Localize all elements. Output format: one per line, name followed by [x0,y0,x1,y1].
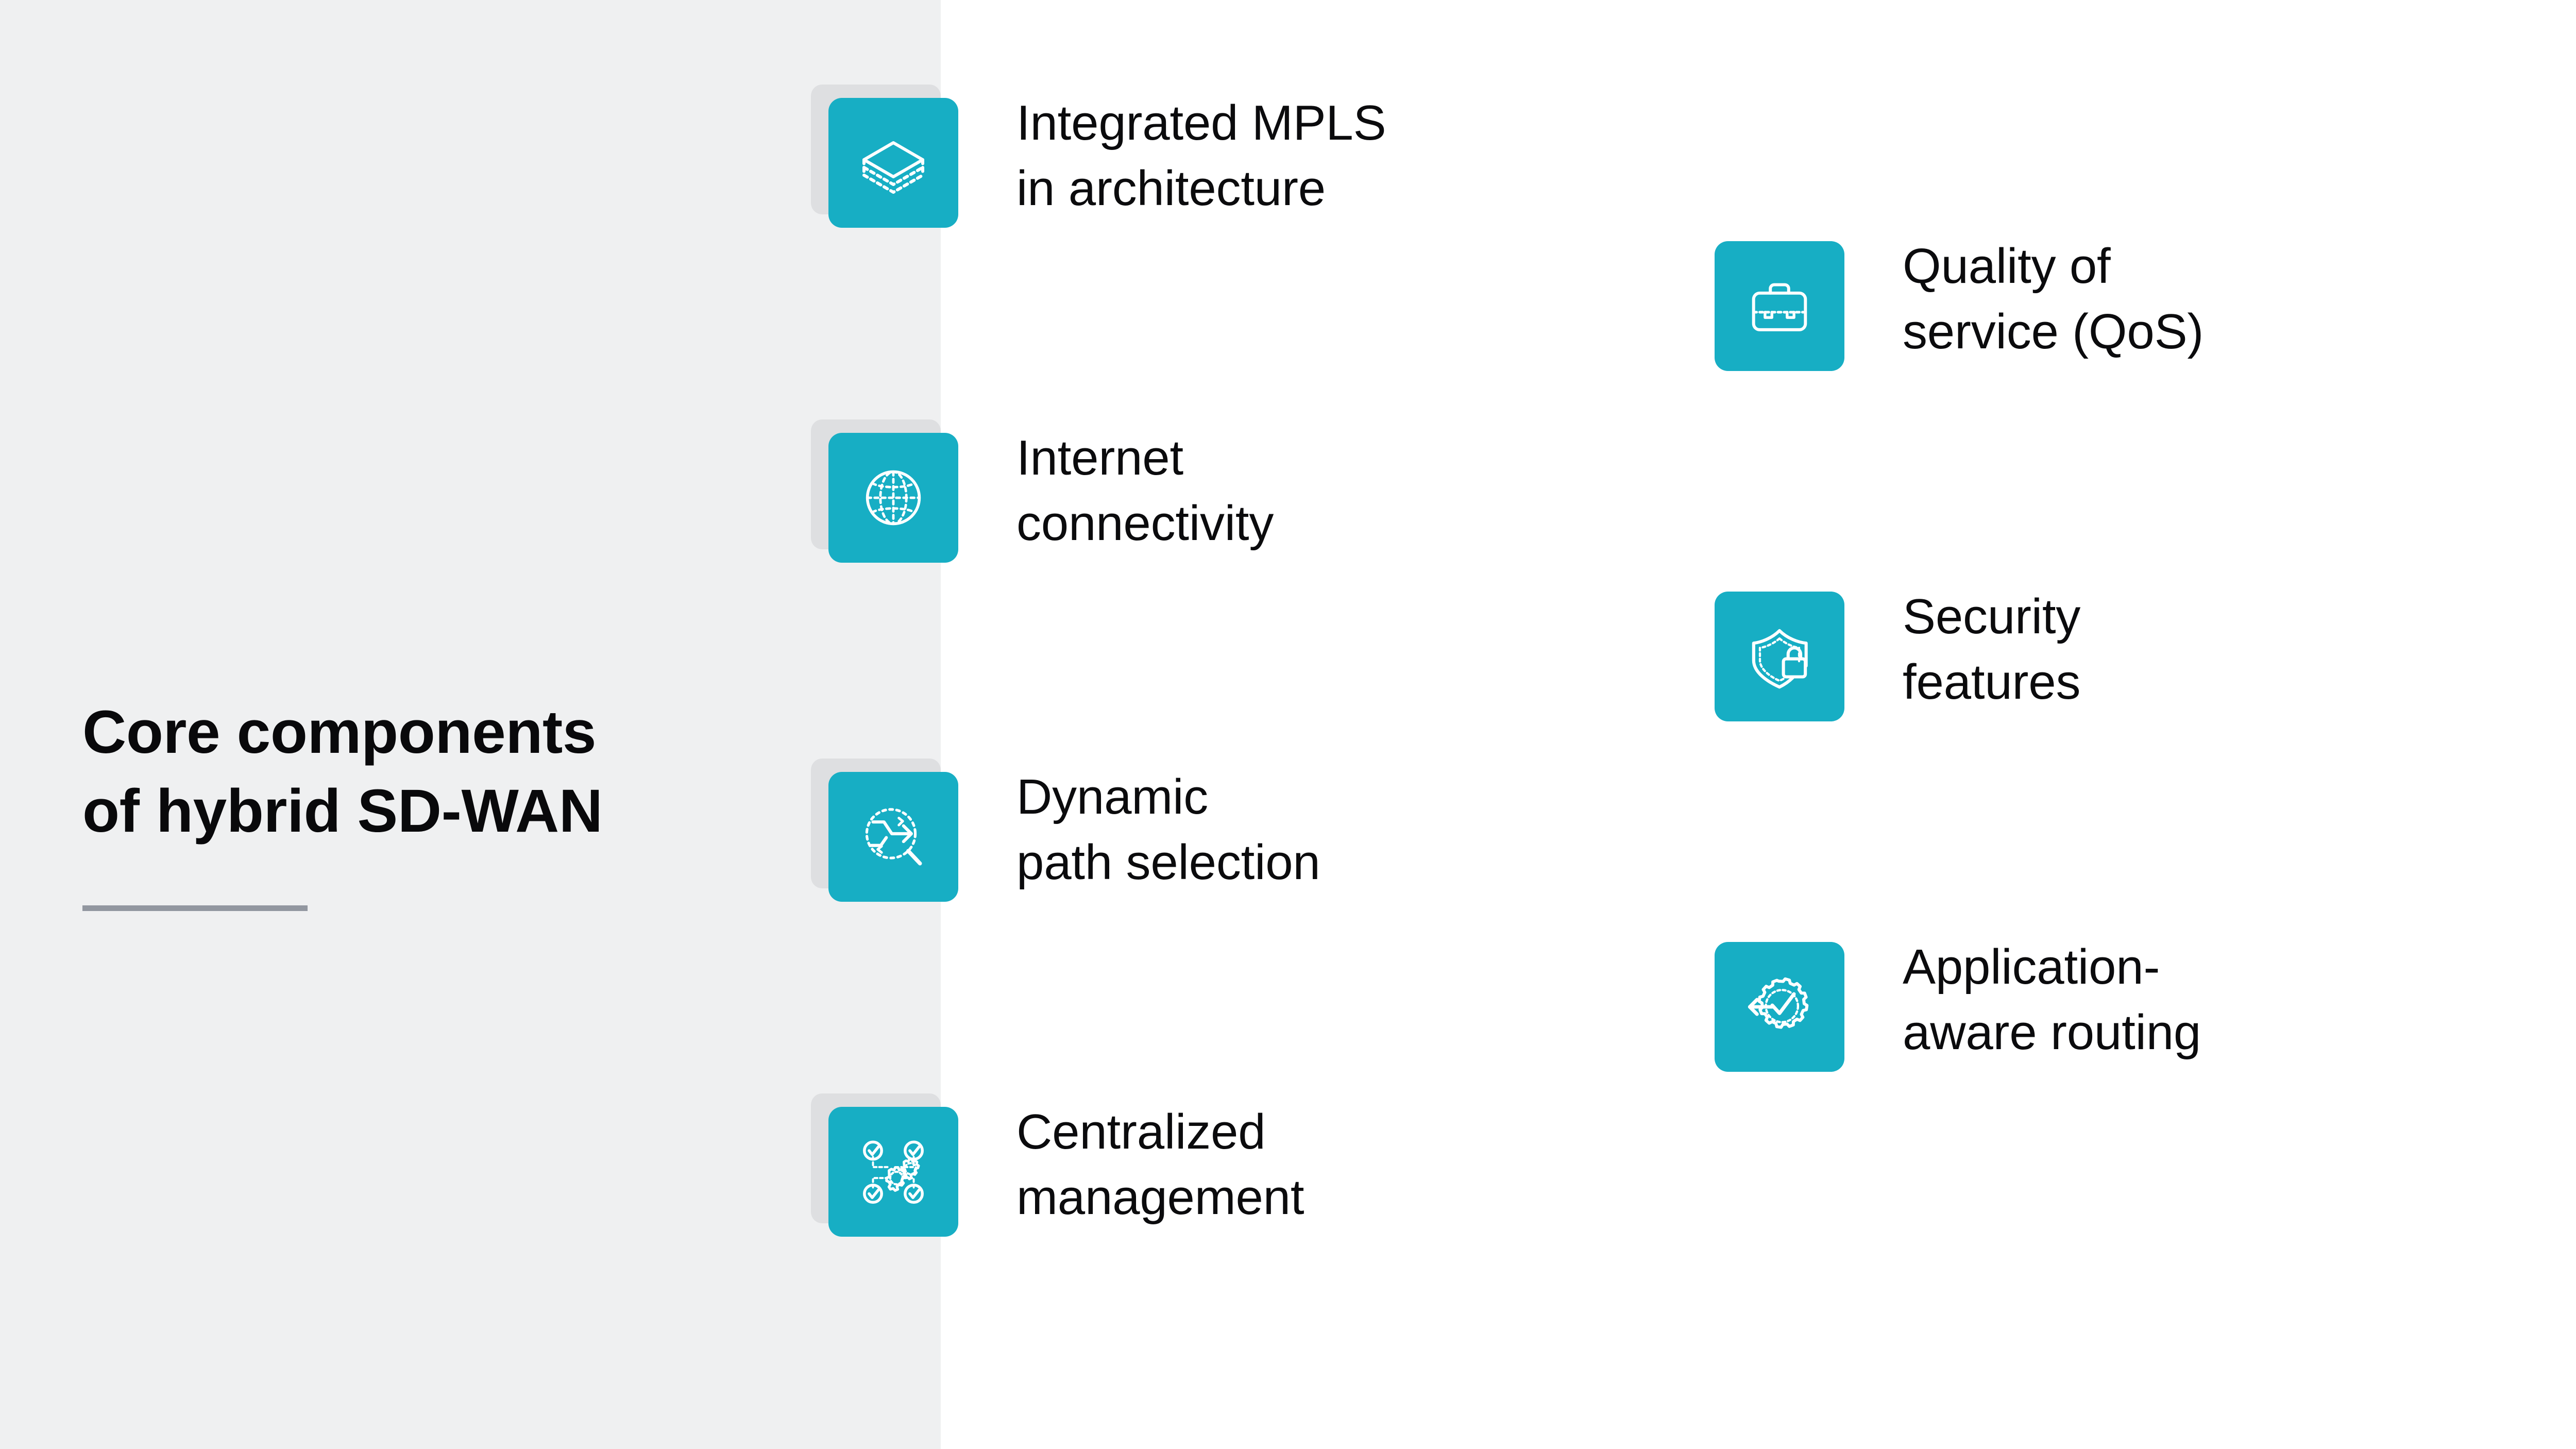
icon-tile-wrapper [1715,942,1844,1072]
page-title: Core components of hybrid SD-WAN [82,693,762,851]
infographic-canvas: Core components of hybrid SD-WAN Integra… [0,0,2576,1449]
component-item-quality-of-service[interactable]: Quality of service (QoS) [1715,241,2204,371]
component-item-dynamic-path-selection[interactable]: Dynamic path selection [828,772,1320,902]
shield-lock-icon [1715,592,1844,721]
component-label: Dynamic path selection [1016,765,1320,895]
component-item-application-aware-routing[interactable]: Application- aware routing [1715,942,2201,1072]
icon-tile-wrapper [1715,592,1844,721]
path-selection-magnifier-icon [828,772,958,902]
component-item-security-features[interactable]: Security features [1715,592,2080,721]
layers-stack-icon [828,98,958,228]
component-label: Security features [1903,584,2080,715]
globe-icon [828,433,958,563]
gear-check-arrow-icon [1715,942,1844,1072]
component-label: Internet connectivity [1016,426,1274,556]
briefcase-icon [1715,241,1844,371]
component-item-integrated-mpls[interactable]: Integrated MPLS in architecture [828,98,1386,228]
component-label: Centralized management [1016,1100,1304,1230]
icon-tile-wrapper [828,98,958,228]
component-label: Integrated MPLS in architecture [1016,91,1386,221]
gears-network-checkmarks-icon [828,1107,958,1237]
icon-tile-wrapper [828,772,958,902]
icon-tile-wrapper [828,1107,958,1237]
component-label: Quality of service (QoS) [1903,234,2204,364]
title-underline-rule [82,905,308,911]
component-item-centralized-management[interactable]: Centralized management [828,1107,1304,1237]
component-item-internet-connectivity[interactable]: Internet connectivity [828,433,1274,563]
icon-tile-wrapper [828,433,958,563]
icon-tile-wrapper [1715,241,1844,371]
component-label: Application- aware routing [1903,935,2201,1065]
heading-block: Core components of hybrid SD-WAN [82,693,762,911]
